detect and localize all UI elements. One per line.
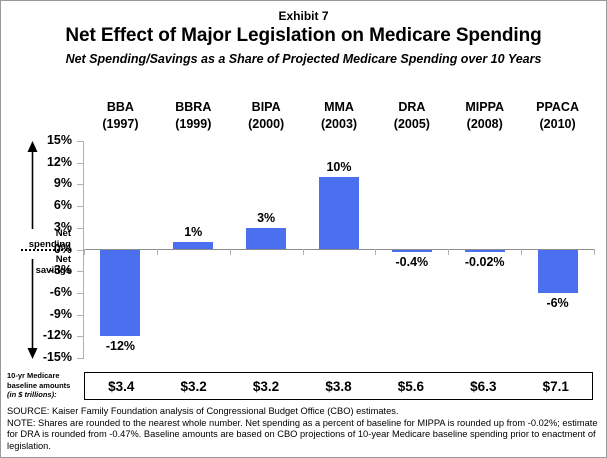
page-subtitle: Net Spending/Savings as a Share of Proje… [1,52,606,66]
chart-figure: Exhibit 7 Net Effect of Major Legislatio… [0,0,607,458]
footnote-note: NOTE: Shares are rounded to the nearest … [7,418,600,453]
x-tick [157,249,158,255]
category-header-row: BBA(1997)BBRA(1999)BIPA(2000)MMA(2003)DR… [84,99,594,135]
x-tick [521,249,522,255]
baseline-amounts-table: $3.4$3.2$3.2$3.8$5.6$6.3$7.1 [84,372,593,400]
bar-mma[interactable] [319,177,359,249]
category-year: (1997) [84,116,157,133]
x-tick [84,249,85,255]
bar-value-label-mippa: -0.02% [465,255,505,269]
category-name: BBA [84,99,157,116]
baseline-label-line1: 10-yr Medicare [7,371,60,380]
category-year: (2010) [521,116,594,133]
y-tick [77,315,84,316]
category-name: DRA [375,99,448,116]
category-header-mma: MMA(2003) [303,99,376,135]
category-name: PPACA [521,99,594,116]
baseline-cell-ppaca: $7.1 [520,379,592,394]
x-tick [448,249,449,255]
category-year: (2000) [230,116,303,133]
y-tick [77,163,84,164]
zero-divider-dotted [21,249,71,251]
bar-value-label-bbra: 1% [184,225,202,239]
y-tick [77,336,84,337]
bar-bipa[interactable] [246,228,286,250]
bar-value-label-bipa: 3% [257,211,275,225]
baseline-label-line2: baseline amounts [7,381,70,390]
category-year: (1999) [157,116,230,133]
bar-value-label-bba: -12% [106,339,135,353]
baseline-cell-dra: $5.6 [375,379,447,394]
y-tick [77,358,84,359]
bar-value-label-ppaca: -6% [546,296,568,310]
zero-baseline [84,249,594,250]
y-tick [77,293,84,294]
category-header-mippa: MIPPA(2008) [448,99,521,135]
baseline-label-line3: (in $ trillions): [7,390,57,399]
y-tick [77,228,84,229]
category-header-dra: DRA(2005) [375,99,448,135]
baseline-cell-bbra: $3.2 [157,379,229,394]
net-spending-line1: Net [56,228,71,239]
baseline-cell-bipa: $3.2 [230,379,302,394]
category-name: MMA [303,99,376,116]
x-tick [303,249,304,255]
bar-value-label-mma: 10% [326,160,351,174]
category-header-bba: BBA(1997) [84,99,157,135]
category-name: BBRA [157,99,230,116]
x-tick [594,249,595,255]
bar-value-label-dra: -0.4% [396,255,429,269]
y-tick [77,271,84,272]
net-savings-line1: Net [56,254,71,265]
page-title: Net Effect of Major Legislation on Medic… [1,25,606,47]
category-header-bbra: BBRA(1999) [157,99,230,135]
net-savings-line2: savings [36,265,71,276]
category-year: (2005) [375,116,448,133]
net-savings-label: Net savings [13,254,71,276]
x-tick [375,249,376,255]
x-tick [230,249,231,255]
baseline-cell-mma: $3.8 [302,379,374,394]
category-year: (2008) [448,116,521,133]
bar-ppaca[interactable] [538,250,578,293]
baseline-cell-bba: $3.4 [85,379,157,394]
category-header-bipa: BIPA(2000) [230,99,303,135]
y-tick [77,141,84,142]
category-year: (2003) [303,116,376,133]
y-tick [77,250,84,251]
y-tick [77,184,84,185]
y-tick [77,206,84,207]
category-name: MIPPA [448,99,521,116]
bar-bba[interactable] [100,250,140,337]
category-name: BIPA [230,99,303,116]
exhibit-label: Exhibit 7 [1,9,606,23]
net-spending-label: Net spending [13,228,71,250]
baseline-cell-mippa: $6.3 [447,379,519,394]
footnotes: SOURCE: Kaiser Family Foundation analysi… [7,406,600,452]
category-header-ppaca: PPACA(2010) [521,99,594,135]
baseline-row-label: 10-yr Medicare baseline amounts (in $ tr… [7,371,79,400]
footnote-source: SOURCE: Kaiser Family Foundation analysi… [7,406,600,418]
